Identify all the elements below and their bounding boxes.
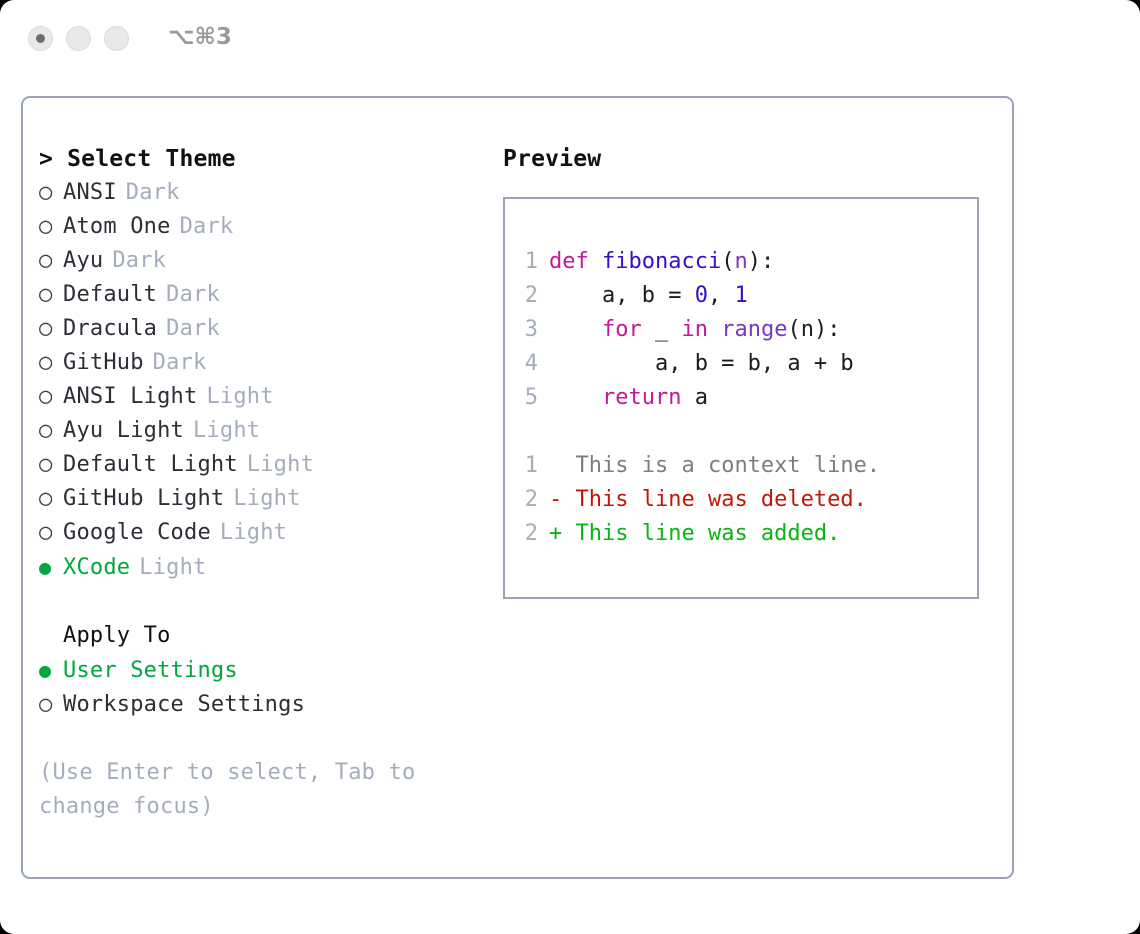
keyboard-shortcut-label: ⌥⌘3 [168,24,232,50]
code-token-plain [549,385,602,410]
window-titlebar: ⌥⌘3 [0,0,1140,76]
traffic-lights [28,26,129,51]
line-number: 3 [505,313,549,347]
radio-unselected-icon: ○ [39,380,63,414]
code-line-content: for _ in range(n): [549,313,840,347]
radio-unselected-icon: ○ [39,688,63,722]
diff-marker: + [549,517,576,551]
theme-option-label: Google Code [63,516,211,550]
radio-unselected-icon: ○ [39,210,63,244]
apply-to-option-label: User Settings [63,654,238,688]
theme-option-ayu[interactable]: ○AyuDark [39,244,489,278]
theme-option-label: XCode [63,551,130,585]
theme-selector-panel: > Select Theme ○ANSIDark○Atom OneDark○Ay… [21,96,1014,879]
line-number: 1 [505,449,549,483]
preview-code-box: 1def fibonacci(n):2 a, b = 0, 13 for _ i… [503,197,979,599]
theme-option-category: Light [211,516,287,550]
theme-option-category: Dark [103,244,166,278]
window-close-button[interactable] [28,26,53,51]
radio-selected-icon: ● [39,653,63,687]
active-indicator-dot [36,34,45,43]
theme-list-column: > Select Theme ○ANSIDark○Atom OneDark○Ay… [39,142,489,824]
diff-marker: - [549,483,576,517]
theme-option-category: Dark [171,210,234,244]
code-token-kw: in [681,317,708,342]
code-token-kw: return [602,385,681,410]
theme-option-label: Ayu [63,244,103,278]
radio-selected-icon: ● [39,550,63,584]
diff-line-add: 2+ This line was added. [505,517,977,551]
apply-to-option-label: Workspace Settings [63,688,305,722]
window-maximize-button[interactable] [104,26,129,51]
code-token-plain: a, b = b, a + b [549,351,854,376]
theme-option-category: Light [197,380,273,414]
diff-line-content: This line was deleted. [576,483,867,517]
code-sample: 1def fibonacci(n):2 a, b = 0, 13 for _ i… [505,245,977,415]
code-token-call: range [721,317,787,342]
radio-unselected-icon: ○ [39,482,63,516]
theme-option-label: GitHub Light [63,482,224,516]
line-number: 1 [505,245,549,279]
diff-line-content: This line was added. [576,517,841,551]
code-line-content: def fibonacci(n): [549,245,774,279]
code-token-plain: a, b = [549,283,695,308]
diff-marker [549,449,576,483]
theme-option-label: ANSI Light [63,380,197,414]
app-window: ⌥⌘3 > Select Theme ○ANSIDark○Atom OneDar… [0,0,1140,934]
theme-option-google-code[interactable]: ○Google CodeLight [39,516,489,550]
code-line-content: return a [549,381,708,415]
theme-option-category: Dark [144,346,207,380]
code-token-fn: fibonacci [602,249,721,274]
code-token-num: 1 [734,283,747,308]
theme-option-category: Light [224,482,300,516]
theme-option-default-light[interactable]: ○Default LightLight [39,448,489,482]
theme-option-category: Dark [157,278,220,312]
keyboard-hint-text: (Use Enter to select, Tab to change focu… [39,756,439,824]
code-diff-spacer [505,415,977,449]
radio-unselected-icon: ○ [39,414,63,448]
apply-to-option-workspace-settings[interactable]: ○Workspace Settings [39,688,489,722]
code-token-var: n [734,249,747,274]
apply-to-option-user-settings[interactable]: ●User Settings [39,653,489,688]
preview-header: Preview [503,142,993,176]
section-spacer [39,585,489,619]
code-line: 3 for _ in range(n): [505,313,977,347]
radio-unselected-icon: ○ [39,176,63,210]
diff-sample: 1 This is a context line.2- This line wa… [505,449,977,551]
code-token-plain [708,317,721,342]
radio-unselected-icon: ○ [39,244,63,278]
code-line: 5 return a [505,381,977,415]
line-number: 2 [505,279,549,313]
diff-line-del: 2- This line was deleted. [505,483,977,517]
code-token-kw: for [602,317,642,342]
theme-option-dracula[interactable]: ○DraculaDark [39,312,489,346]
code-token-plain: ( [721,249,734,274]
theme-option-github[interactable]: ○GitHubDark [39,346,489,380]
radio-unselected-icon: ○ [39,312,63,346]
theme-option-label: Default Light [63,448,238,482]
theme-option-label: GitHub [63,346,144,380]
diff-line-ctx: 1 This is a context line. [505,449,977,483]
diff-line-content: This is a context line. [576,449,881,483]
apply-to-options-list: ●User Settings○Workspace Settings [39,653,489,722]
line-number: 2 [505,517,549,551]
radio-unselected-icon: ○ [39,278,63,312]
code-token-plain: (n): [787,317,840,342]
code-line-content: a, b = 0, 1 [549,279,748,313]
code-line: 4 a, b = b, a + b [505,347,977,381]
code-line: 1def fibonacci(n): [505,245,977,279]
theme-option-label: Atom One [63,210,171,244]
code-token-plain: _ [642,317,682,342]
code-line: 2 a, b = 0, 1 [505,279,977,313]
code-token-kw: def [549,249,602,274]
code-token-num: 0 [695,283,708,308]
theme-options-list: ○ANSIDark○Atom OneDark○AyuDark○DefaultDa… [39,176,489,585]
theme-option-category: Dark [117,176,180,210]
theme-option-ansi-light[interactable]: ○ANSI LightLight [39,380,489,414]
theme-option-label: Ayu Light [63,414,184,448]
code-token-plain: ): [748,249,775,274]
preview-column: Preview 1def fibonacci(n):2 a, b = 0, 13… [503,142,993,599]
theme-option-category: Light [130,551,206,585]
code-token-plain: , [708,283,735,308]
code-token-plain: a [681,385,708,410]
theme-option-default[interactable]: ○DefaultDark [39,278,489,312]
line-number: 4 [505,347,549,381]
theme-option-label: ANSI [63,176,117,210]
window-minimize-button[interactable] [66,26,91,51]
theme-option-category: Light [184,414,260,448]
theme-option-github-light[interactable]: ○GitHub LightLight [39,482,489,516]
radio-unselected-icon: ○ [39,448,63,482]
line-number: 2 [505,483,549,517]
theme-option-label: Default [63,278,157,312]
code-line-content: a, b = b, a + b [549,347,854,381]
radio-unselected-icon: ○ [39,516,63,550]
theme-option-xcode[interactable]: ●XCodeLight [39,550,489,585]
theme-option-category: Light [238,448,314,482]
radio-unselected-icon: ○ [39,346,63,380]
theme-option-category: Dark [157,312,220,346]
theme-option-ansi[interactable]: ○ANSIDark [39,176,489,210]
theme-option-label: Dracula [63,312,157,346]
theme-option-ayu-light[interactable]: ○Ayu LightLight [39,414,489,448]
line-number: 5 [505,381,549,415]
theme-option-atom-one[interactable]: ○Atom OneDark [39,210,489,244]
select-theme-header: > Select Theme [39,142,489,176]
code-token-plain [549,317,602,342]
apply-to-header: Apply To [39,619,489,653]
